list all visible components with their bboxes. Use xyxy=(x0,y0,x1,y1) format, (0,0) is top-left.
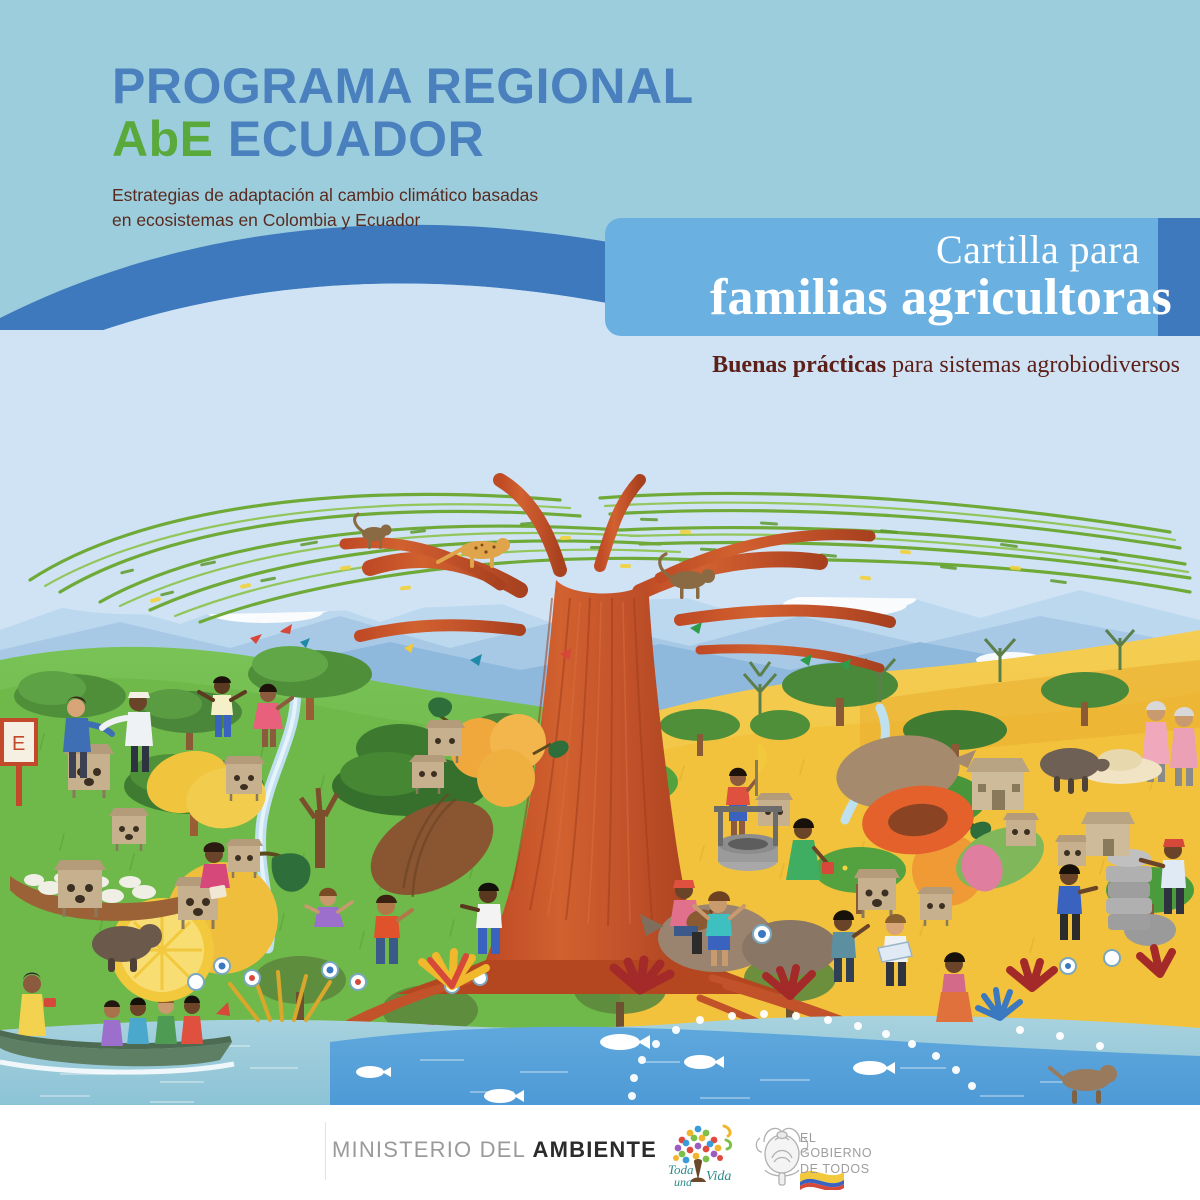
abe-accent: AbE xyxy=(112,111,214,167)
banner-subtitle: Buenas prácticas para sistemas agrobiodi… xyxy=(600,352,1180,379)
svg-text:E: E xyxy=(12,733,25,755)
ecuador-text: ECUADOR xyxy=(214,111,485,167)
ministry-label-light: MINISTERIO DEL xyxy=(332,1137,533,1162)
gobierno-line3: DE TODOS xyxy=(800,1162,872,1177)
ministry-label-bold: AMBIENTE xyxy=(533,1137,658,1162)
banner-subtitle-rest: para sistemas agrobiodiversos xyxy=(886,352,1180,378)
gobierno-line2: GOBIERNO xyxy=(800,1146,872,1161)
una-text: una xyxy=(674,1175,692,1189)
page-title: PROGRAMA REGIONAL AbE ECUADOR xyxy=(112,60,752,166)
gobierno-line1: EL xyxy=(800,1131,872,1146)
program-subtitle-line1: Estrategias de adaptación al cambio clim… xyxy=(112,183,632,208)
gobierno-label: EL GOBIERNO DE TODOS xyxy=(800,1131,872,1177)
program-subtitle: Estrategias de adaptación al cambio clim… xyxy=(112,183,632,233)
cover-illustration: E xyxy=(0,330,1200,1105)
banner-title-line1: Cartilla para xyxy=(605,226,1158,273)
footer-divider xyxy=(325,1122,326,1180)
cover-page: E xyxy=(0,0,1200,1200)
vida-text: Vida xyxy=(706,1169,731,1184)
program-subtitle-line2: en ecosistemas en Colombia y Ecuador xyxy=(112,208,632,233)
ministry-logo: MINISTERIO DEL AMBIENTE xyxy=(332,1137,657,1163)
toda-una-vida-logo: Toda una Vida xyxy=(648,1118,748,1190)
banner-title-line2: familias agricultoras xyxy=(605,268,1190,327)
program-title-line2: AbE ECUADOR xyxy=(112,113,752,166)
program-title-line1: PROGRAMA REGIONAL xyxy=(112,58,694,114)
banner-subtitle-bold: Buenas prácticas xyxy=(712,352,886,378)
